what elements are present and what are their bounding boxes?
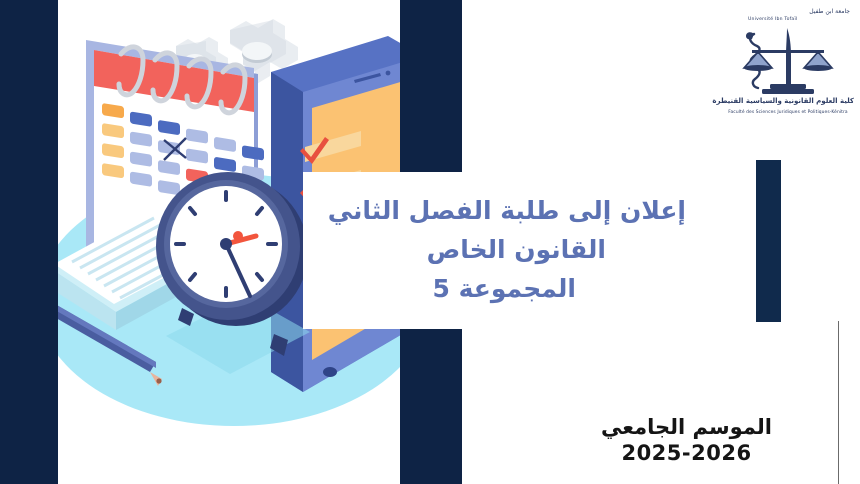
- season-years: 2025-2026: [601, 440, 772, 466]
- title-card: إعلان إلى طلبة الفصل الثاني القانون الخا…: [303, 172, 708, 329]
- faculty-logo: Université Ibn Tofaïl جامعة ابن طفيل كلي…: [722, 4, 854, 122]
- academic-season-block: الموسم الجامعي 2025-2026: [601, 414, 772, 467]
- logo-university-ar: جامعة ابن طفيل: [809, 8, 850, 15]
- left-navy-band: [0, 0, 58, 484]
- accent-navy-bar: [756, 160, 781, 322]
- logo-faculty-ar: كلية العلوم القانونية والسياسية القنيطرة: [722, 97, 854, 105]
- title-line-3: المجموعة 5: [303, 270, 692, 309]
- poster-canvas: إعلان إلى طلبة الفصل الثاني القانون الخا…: [0, 0, 860, 484]
- title-line-2: القانون الخاص: [303, 231, 692, 270]
- season-label: الموسم الجامعي: [601, 414, 772, 440]
- alarm-clock-icon: [156, 172, 310, 374]
- vertical-divider-rule: [838, 321, 839, 484]
- scales-of-justice-icon: [732, 20, 844, 100]
- logo-faculty-fr: Faculté des Sciences Juridiques et Polit…: [722, 110, 854, 115]
- title-line-1: إعلان إلى طلبة الفصل الثاني: [303, 192, 692, 231]
